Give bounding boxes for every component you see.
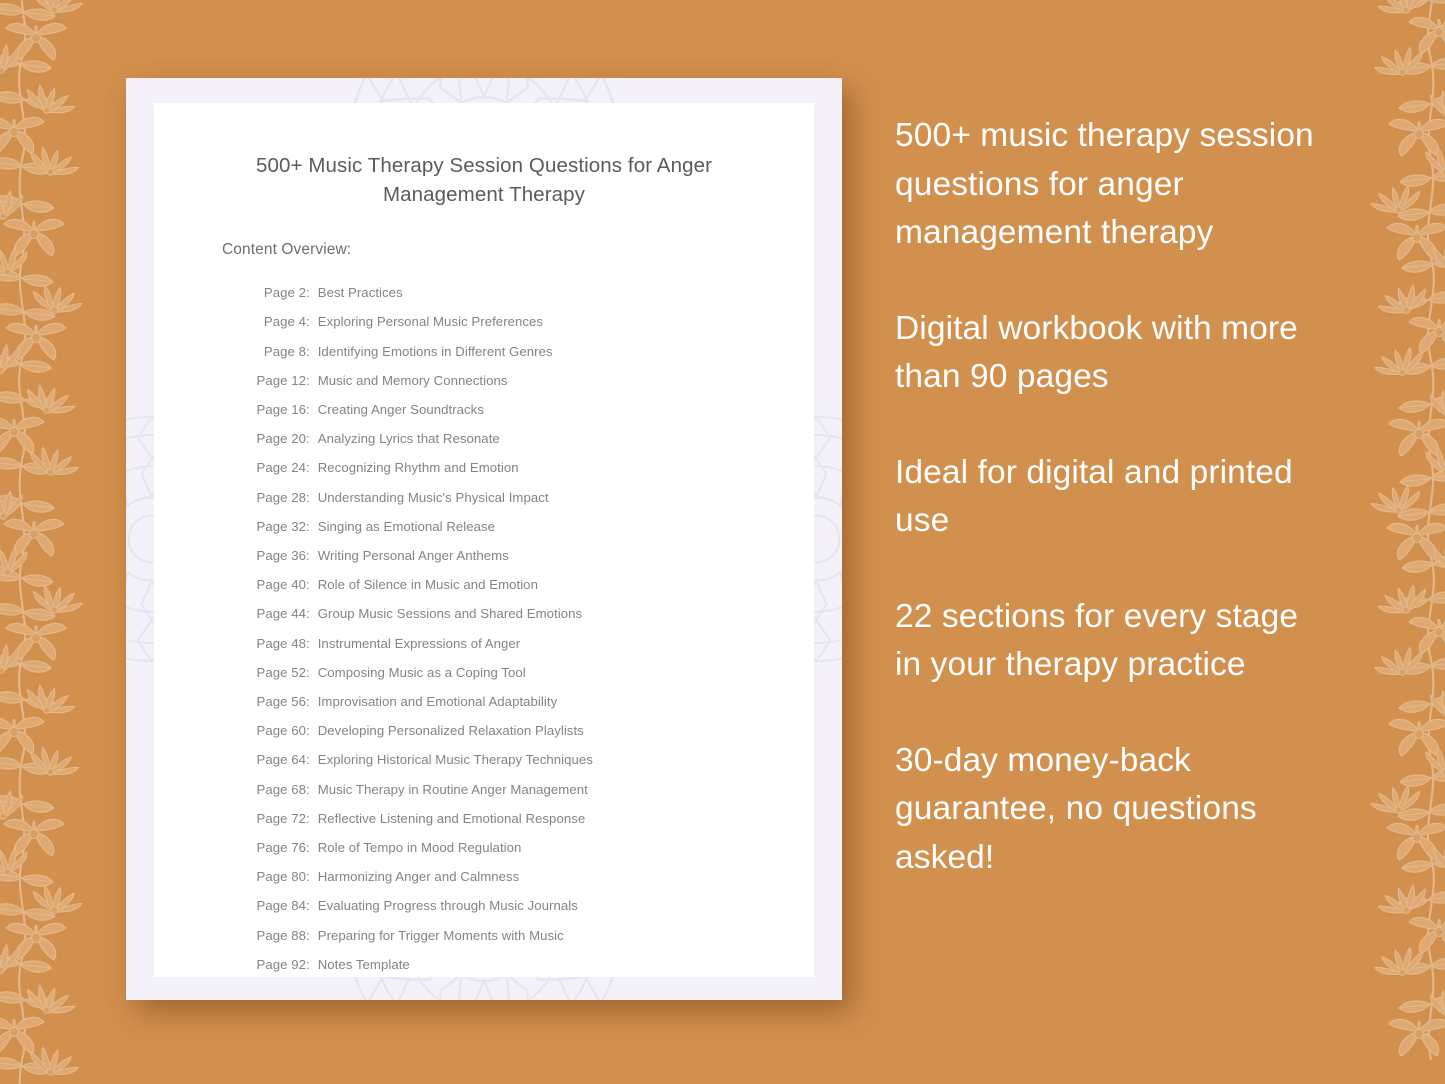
- toc-section-title: Notes Template: [318, 950, 410, 979]
- toc-page-number: Page 84: [248, 891, 306, 920]
- table-of-contents-row: Page 16:Creating Anger Soundtracks: [248, 395, 814, 424]
- table-of-contents-row: Page 8:Identifying Emotions in Different…: [248, 337, 814, 366]
- toc-separator: :: [306, 366, 318, 395]
- table-of-contents: Page 2:Best PracticesPage 4:Exploring Pe…: [154, 259, 814, 979]
- toc-separator: :: [306, 337, 318, 366]
- floral-vine-right-decoration: [1321, 0, 1445, 1084]
- toc-section-title: Understanding Music's Physical Impact: [318, 483, 549, 512]
- toc-section-title: Writing Personal Anger Anthems: [318, 541, 509, 570]
- toc-page-number: Page 88: [248, 921, 306, 950]
- toc-separator: :: [306, 921, 318, 950]
- feature-bullet: 500+ music therapy session questions for…: [895, 112, 1315, 258]
- table-of-contents-row: Page 92:Notes Template: [248, 950, 814, 979]
- table-of-contents-row: Page 28:Understanding Music's Physical I…: [248, 483, 814, 512]
- toc-section-title: Preparing for Trigger Moments with Music: [318, 921, 564, 950]
- toc-page-number: Page 92: [248, 950, 306, 979]
- table-of-contents-row: Page 52:Composing Music as a Coping Tool: [248, 658, 814, 687]
- toc-section-title: Role of Silence in Music and Emotion: [318, 570, 538, 599]
- toc-section-title: Evaluating Progress through Music Journa…: [318, 891, 578, 920]
- table-of-contents-row: Page 56:Improvisation and Emotional Adap…: [248, 687, 814, 716]
- table-of-contents-row: Page 40:Role of Silence in Music and Emo…: [248, 570, 814, 599]
- toc-section-title: Composing Music as a Coping Tool: [318, 658, 526, 687]
- feature-bullet: 22 sections for every stage in your ther…: [895, 593, 1315, 690]
- toc-page-number: Page 24: [248, 453, 306, 482]
- toc-separator: :: [306, 453, 318, 482]
- toc-page-number: Page 4: [248, 307, 306, 336]
- toc-section-title: Singing as Emotional Release: [318, 512, 495, 541]
- toc-section-title: Role of Tempo in Mood Regulation: [318, 833, 522, 862]
- feature-bullet: Digital workbook with more than 90 pages: [895, 305, 1315, 402]
- page-title: 500+ Music Therapy Session Questions for…: [154, 103, 814, 209]
- toc-separator: :: [306, 745, 318, 774]
- table-of-contents-row: Page 80:Harmonizing Anger and Calmness: [248, 862, 814, 891]
- toc-section-title: Harmonizing Anger and Calmness: [318, 862, 520, 891]
- table-of-contents-row: Page 60:Developing Personalized Relaxati…: [248, 716, 814, 745]
- toc-section-title: Music and Memory Connections: [318, 366, 508, 395]
- table-of-contents-row: Page 24:Recognizing Rhythm and Emotion: [248, 453, 814, 482]
- table-of-contents-row: Page 72:Reflective Listening and Emotion…: [248, 804, 814, 833]
- toc-page-number: Page 52: [248, 658, 306, 687]
- table-of-contents-row: Page 64:Exploring Historical Music Thera…: [248, 745, 814, 774]
- toc-page-number: Page 2: [248, 278, 306, 307]
- toc-separator: :: [306, 716, 318, 745]
- toc-section-title: Developing Personalized Relaxation Playl…: [318, 716, 584, 745]
- toc-page-number: Page 72: [248, 804, 306, 833]
- toc-page-number: Page 44: [248, 599, 306, 628]
- content-overview-label: Content Overview:: [154, 209, 814, 259]
- toc-separator: :: [306, 307, 318, 336]
- table-of-contents-row: Page 20:Analyzing Lyrics that Resonate: [248, 424, 814, 453]
- toc-separator: :: [306, 541, 318, 570]
- toc-page-number: Page 16: [248, 395, 306, 424]
- toc-section-title: Improvisation and Emotional Adaptability: [318, 687, 558, 716]
- toc-page-number: Page 28: [248, 483, 306, 512]
- table-of-contents-row: Page 48:Instrumental Expressions of Ange…: [248, 629, 814, 658]
- toc-separator: :: [306, 599, 318, 628]
- toc-section-title: Instrumental Expressions of Anger: [318, 629, 521, 658]
- toc-page-number: Page 12: [248, 366, 306, 395]
- product-preview-card: 500+ Music Therapy Session Questions for…: [126, 78, 842, 1000]
- toc-separator: :: [306, 395, 318, 424]
- toc-page-number: Page 80: [248, 862, 306, 891]
- toc-separator: :: [306, 862, 318, 891]
- workbook-page-preview: 500+ Music Therapy Session Questions for…: [154, 103, 814, 977]
- toc-section-title: Creating Anger Soundtracks: [318, 395, 484, 424]
- toc-page-number: Page 20: [248, 424, 306, 453]
- toc-separator: :: [306, 278, 318, 307]
- table-of-contents-row: Page 4:Exploring Personal Music Preferen…: [248, 307, 814, 336]
- feature-bullet: 30-day money-back guarantee, no question…: [895, 737, 1315, 883]
- toc-page-number: Page 32: [248, 512, 306, 541]
- table-of-contents-row: Page 36:Writing Personal Anger Anthems: [248, 541, 814, 570]
- table-of-contents-row: Page 44:Group Music Sessions and Shared …: [248, 599, 814, 628]
- toc-section-title: Identifying Emotions in Different Genres: [318, 337, 553, 366]
- toc-separator: :: [306, 804, 318, 833]
- table-of-contents-row: Page 84:Evaluating Progress through Musi…: [248, 891, 814, 920]
- toc-section-title: Group Music Sessions and Shared Emotions: [318, 599, 582, 628]
- table-of-contents-row: Page 2:Best Practices: [248, 278, 814, 307]
- toc-section-title: Recognizing Rhythm and Emotion: [318, 453, 519, 482]
- toc-section-title: Best Practices: [318, 278, 403, 307]
- toc-separator: :: [306, 658, 318, 687]
- toc-page-number: Page 68: [248, 775, 306, 804]
- table-of-contents-row: Page 68:Music Therapy in Routine Anger M…: [248, 775, 814, 804]
- feature-bullet-list: 500+ music therapy session questions for…: [895, 112, 1315, 882]
- toc-page-number: Page 36: [248, 541, 306, 570]
- toc-section-title: Reflective Listening and Emotional Respo…: [318, 804, 586, 833]
- toc-separator: :: [306, 775, 318, 804]
- toc-section-title: Music Therapy in Routine Anger Managemen…: [318, 775, 588, 804]
- toc-separator: :: [306, 512, 318, 541]
- toc-separator: :: [306, 950, 318, 979]
- toc-separator: :: [306, 891, 318, 920]
- table-of-contents-row: Page 88:Preparing for Trigger Moments wi…: [248, 921, 814, 950]
- toc-page-number: Page 48: [248, 629, 306, 658]
- feature-bullet: Ideal for digital and printed use: [895, 449, 1315, 546]
- toc-section-title: Exploring Personal Music Preferences: [318, 307, 543, 336]
- toc-separator: :: [306, 483, 318, 512]
- toc-separator: :: [306, 687, 318, 716]
- toc-page-number: Page 8: [248, 337, 306, 366]
- toc-separator: :: [306, 570, 318, 599]
- floral-vine-left-decoration: [0, 0, 132, 1084]
- toc-page-number: Page 76: [248, 833, 306, 862]
- toc-page-number: Page 56: [248, 687, 306, 716]
- toc-separator: :: [306, 424, 318, 453]
- table-of-contents-row: Page 32:Singing as Emotional Release: [248, 512, 814, 541]
- toc-page-number: Page 64: [248, 745, 306, 774]
- toc-separator: :: [306, 833, 318, 862]
- toc-page-number: Page 60: [248, 716, 306, 745]
- toc-section-title: Exploring Historical Music Therapy Techn…: [318, 745, 593, 774]
- toc-separator: :: [306, 629, 318, 658]
- toc-section-title: Analyzing Lyrics that Resonate: [318, 424, 500, 453]
- toc-page-number: Page 40: [248, 570, 306, 599]
- table-of-contents-row: Page 76:Role of Tempo in Mood Regulation: [248, 833, 814, 862]
- table-of-contents-row: Page 12:Music and Memory Connections: [248, 366, 814, 395]
